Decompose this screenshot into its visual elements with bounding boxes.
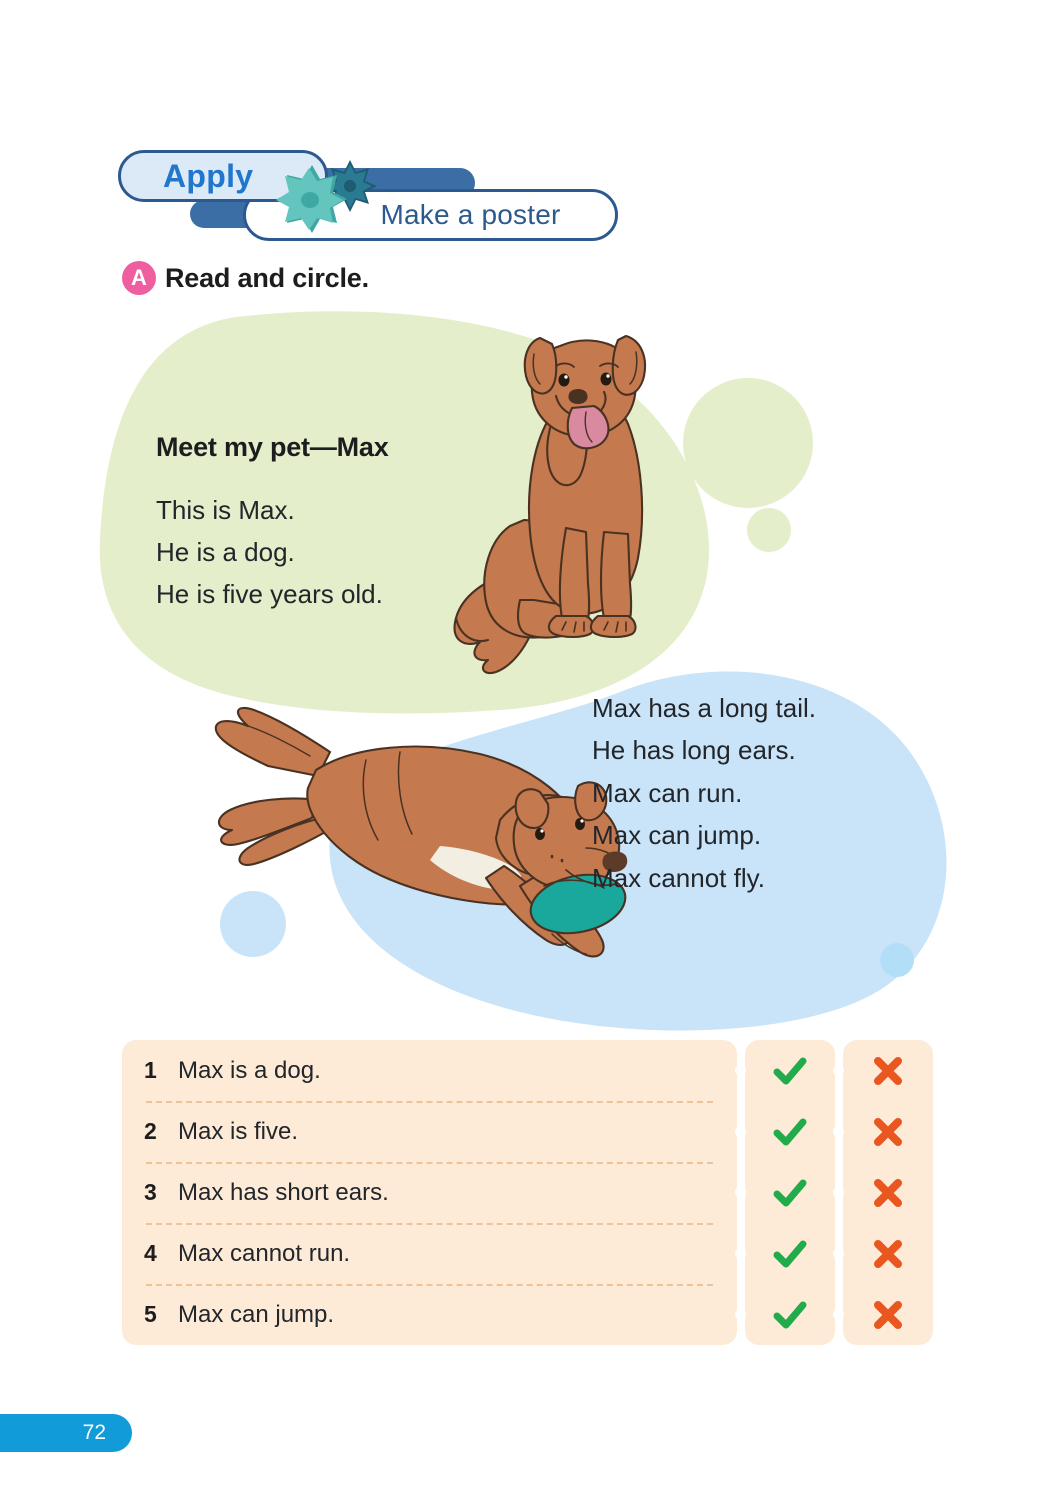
quiz-row-number: 3 (144, 1179, 178, 1206)
green-circle-large (683, 378, 813, 508)
illustration-scene: Meet my pet—Max This is Max. He is a dog… (0, 300, 1060, 1040)
quiz-check-column (745, 1040, 835, 1345)
quiz-row-number: 5 (144, 1301, 178, 1328)
facts-line: Max has a long tail. (592, 687, 922, 729)
check-option[interactable] (745, 1040, 835, 1101)
quiz-row-statement: Max has short ears. (178, 1179, 389, 1207)
cross-icon (871, 1115, 905, 1149)
gears-icon (272, 152, 388, 244)
panel-gap-dot (735, 1309, 746, 1320)
cross-option[interactable] (843, 1040, 933, 1101)
quiz-row: 2 Max is five. (144, 1101, 715, 1162)
quiz-row: 1 Max is a dog. (144, 1040, 715, 1101)
poster-line: This is Max. (156, 489, 486, 531)
cross-icon (871, 1237, 905, 1271)
apply-label: Apply (121, 158, 253, 195)
section-banner: Make a poster Apply (0, 0, 1060, 260)
page-number: 72 (83, 1421, 106, 1445)
facts-text-block: Max has a long tail. He has long ears. M… (592, 687, 922, 899)
quiz-row-statement: Max can jump. (178, 1301, 334, 1329)
panel-gap-dot (833, 1309, 844, 1320)
green-circle-small (747, 508, 791, 552)
panel-gap-dot (833, 1187, 844, 1198)
quiz-cross-column (843, 1040, 933, 1345)
quiz-table: 1 Max is a dog. 2 Max is five. 3 Max has… (122, 1040, 942, 1345)
panel-gap-dot (735, 1126, 746, 1137)
cross-icon (871, 1176, 905, 1210)
panel-gap-dot (735, 1248, 746, 1259)
textbook-page: Make a poster Apply (0, 0, 1060, 1508)
facts-line: Max cannot fly. (592, 857, 922, 899)
poster-text-block: Meet my pet—Max This is Max. He is a dog… (156, 432, 486, 615)
facts-line: He has long ears. (592, 729, 922, 771)
quiz-row-statement: Max is a dog. (178, 1057, 321, 1085)
panel-gap-dot (833, 1065, 844, 1076)
quiz-row: 5 Max can jump. (144, 1284, 715, 1345)
blue-circle-small (220, 891, 286, 957)
poster-line: He is five years old. (156, 573, 486, 615)
quiz-row-number: 1 (144, 1057, 178, 1084)
check-icon (773, 1054, 807, 1088)
check-icon (773, 1176, 807, 1210)
cross-icon (871, 1298, 905, 1332)
task-badge: A (122, 261, 156, 295)
poster-line: He is a dog. (156, 531, 486, 573)
blue-circle-tiny (880, 943, 914, 977)
panel-gap-dot (735, 1187, 746, 1198)
check-option[interactable] (745, 1101, 835, 1162)
facts-line: Max can run. (592, 772, 922, 814)
task-instruction: Read and circle. (165, 263, 369, 294)
panel-gap-dot (833, 1126, 844, 1137)
check-icon (773, 1237, 807, 1271)
check-option[interactable] (745, 1223, 835, 1284)
cross-option[interactable] (843, 1101, 933, 1162)
check-option[interactable] (745, 1162, 835, 1223)
check-option[interactable] (745, 1284, 835, 1345)
quiz-row-number: 2 (144, 1118, 178, 1145)
cross-icon (871, 1054, 905, 1088)
task-heading: A Read and circle. (122, 261, 369, 295)
check-icon (773, 1115, 807, 1149)
poster-title: Meet my pet—Max (156, 432, 486, 463)
quiz-row-number: 4 (144, 1240, 178, 1267)
quiz-row: 3 Max has short ears. (144, 1162, 715, 1223)
quiz-statements-panel: 1 Max is a dog. 2 Max is five. 3 Max has… (122, 1040, 737, 1345)
quiz-row: 4 Max cannot run. (144, 1223, 715, 1284)
cross-option[interactable] (843, 1223, 933, 1284)
check-icon (773, 1298, 807, 1332)
facts-line: Max can jump. (592, 814, 922, 856)
panel-gap-dot (833, 1248, 844, 1259)
cross-option[interactable] (843, 1284, 933, 1345)
cross-option[interactable] (843, 1162, 933, 1223)
page-number-tab: 72 (0, 1414, 132, 1452)
panel-gap-dot (735, 1065, 746, 1076)
quiz-row-statement: Max is five. (178, 1118, 298, 1146)
quiz-row-statement: Max cannot run. (178, 1240, 350, 1268)
